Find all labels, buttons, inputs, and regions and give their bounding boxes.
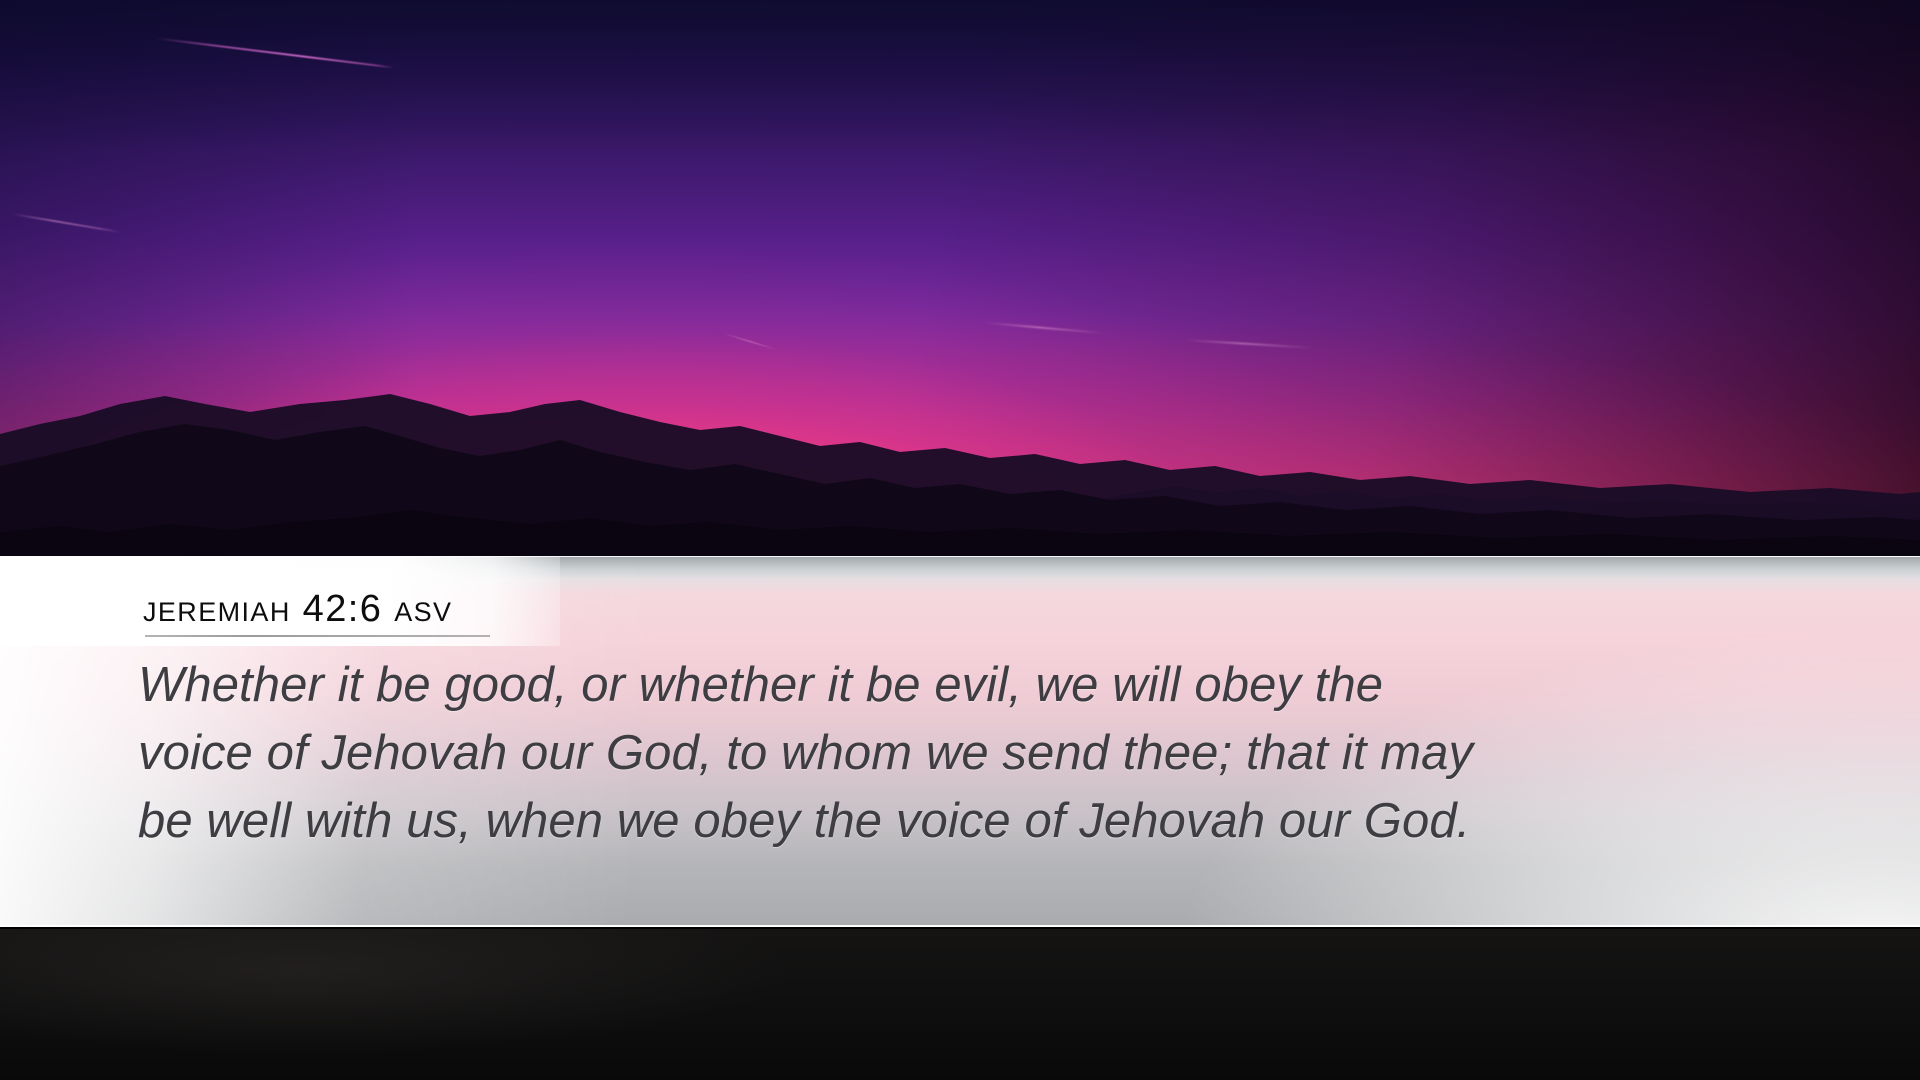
reference-underline (145, 635, 490, 637)
verse-wallpaper: Jeremiah 42:6 ASV Whether it be good, or… (0, 0, 1920, 1080)
sky-top-shading (0, 0, 1920, 150)
verse-text-block: Jeremiah 42:6 ASV Whether it be good, or… (0, 556, 1920, 927)
mountain-silhouette (0, 360, 1920, 560)
verse-reference: Jeremiah 42:6 ASV (143, 590, 452, 632)
verse-reference-label: Jeremiah 42:6 ASV (143, 590, 452, 632)
verse-body-text: Whether it be good, or whether it be evi… (138, 651, 1798, 855)
contrail-streak-icon (985, 322, 1105, 334)
contrail-streak-icon (1185, 339, 1315, 348)
verse-line: voice of Jehovah our God, to whom we sen… (138, 719, 1798, 787)
sunset-sky (0, 0, 1920, 560)
contrail-streak-icon (723, 333, 777, 351)
verse-line: Whether it be good, or whether it be evi… (138, 651, 1798, 719)
dark-foreground (0, 929, 1920, 1080)
verse-line: be well with us, when we obey the voice … (138, 787, 1798, 855)
